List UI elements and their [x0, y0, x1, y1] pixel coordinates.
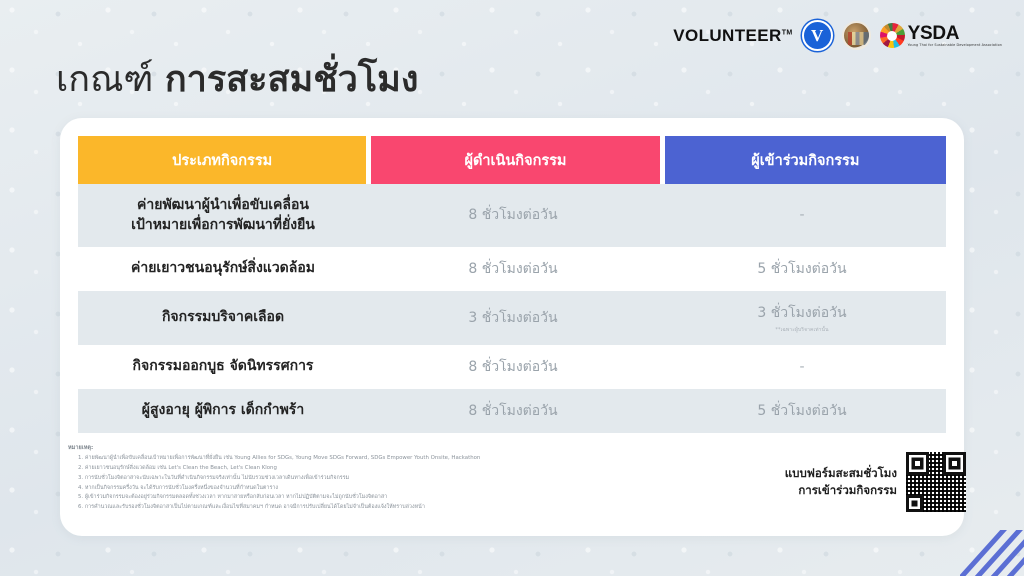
table-row: กิจกรรมออกบูธ จัดนิทรรศการ 8 ชั่วโมงต่อว… [78, 345, 946, 389]
activity-line-1: ค่ายพัฒนาผู้นำเพื่อขับเคลื่อน [137, 195, 309, 215]
activity-line-1: กิจกรรมออกบูธ จัดนิทรรศการ [133, 356, 314, 376]
criteria-table: ประเภทกิจกรรม ผู้ดำเนินกิจกรรม ผู้เข้าร่… [78, 136, 946, 433]
qr-section: แบบฟอร์มสะสมชั่วโมง การเข้าร่วมกิจกรรม [785, 452, 966, 512]
qr-label-line-2: การเข้าร่วมกิจกรรม [785, 482, 897, 499]
activity-line-1: ผู้สูงอายุ ผู้พิการ เด็กกำพร้า [142, 400, 304, 420]
page-title-bold: การสะสมชั่วโมง [165, 59, 419, 100]
qr-finder-bottom-left [906, 495, 923, 512]
cell-activity-type: ค่ายเยาวชนอนุรักษ์สิ่งแวดล้อม [78, 247, 368, 291]
cell-participant-hours: 5 ชั่วโมงต่อวัน [658, 389, 946, 433]
cell-activity-type: กิจกรรมออกบูธ จัดนิทรรศการ [78, 345, 368, 389]
activity-line-1: กิจกรรมบริจาคเลือด [162, 307, 284, 327]
qr-label-line-1: แบบฟอร์มสะสมชั่วโมง [785, 465, 897, 482]
table-row: ค่ายเยาวชนอนุรักษ์สิ่งแวดล้อม 8 ชั่วโมงต… [78, 247, 946, 291]
volunteer-wordmark-text: VOLUNTEER [673, 26, 781, 45]
cell-organizer-hours: 8 ชั่วโมงต่อวัน [368, 389, 658, 433]
notes-heading: หมายเหตุ: [68, 443, 668, 453]
ysda-tagline: Young Thai for Sustainable Development A… [908, 44, 1002, 47]
participant-hours-value: - [799, 207, 804, 223]
note-item: 4. หากเป็นกิจกรรมครึ่งวัน จะได้รับการนับ… [78, 484, 668, 494]
table-row: ค่ายพัฒนาผู้นำเพื่อขับเคลื่อน เป้าหมายเพ… [78, 184, 946, 247]
note-item: 1. ค่ายพัฒนาผู้นำเพื่อขับเคลื่อนเป้าหมาย… [78, 454, 668, 464]
cell-activity-type: ผู้สูงอายุ ผู้พิการ เด็กกำพร้า [78, 389, 368, 433]
cell-activity-type: กิจกรรมบริจาคเลือด [78, 291, 368, 345]
table-row: กิจกรรมบริจาคเลือด 3 ชั่วโมงต่อวัน 3 ชั่… [78, 291, 946, 345]
cell-participant-hours: 5 ชั่วโมงต่อวัน [658, 247, 946, 291]
participant-hours-footnote: **เฉพาะผู้บริจาคเท่านั้น [775, 326, 828, 334]
page-title: เกณฑ์ การสะสมชั่วโมง [56, 50, 418, 107]
column-header-activity-type: ประเภทกิจกรรม [78, 136, 366, 184]
table-header-row: ประเภทกิจกรรม ผู้ดำเนินกิจกรรม ผู้เข้าร่… [78, 136, 946, 184]
notes-section: หมายเหตุ: 1. ค่ายพัฒนาผู้นำเพื่อขับเคลื่… [68, 443, 668, 513]
cell-organizer-hours: 8 ชั่วโมงต่อวัน [368, 345, 658, 389]
note-item: 2. ค่ายเยาวชนอนุรักษ์สิ่งแวดล้อม เช่น Le… [78, 464, 668, 474]
column-header-participant: ผู้เข้าร่วมกิจกรรม [665, 136, 946, 184]
participant-hours-value: - [799, 359, 804, 375]
sdg-wheel-icon [880, 23, 905, 48]
activity-line-2: เป้าหมายเพื่อการพัฒนาที่ยั่งยืน [131, 215, 315, 235]
participant-hours-value: 3 ชั่วโมงต่อวัน [757, 302, 846, 324]
ysda-name: YSDA [908, 24, 1002, 43]
volunteer-badge-icon: V [802, 20, 833, 51]
cell-participant-hours: - [658, 345, 946, 389]
cell-organizer-hours: 3 ชั่วโมงต่อวัน [368, 291, 658, 345]
ysda-logo: YSDA Young Thai for Sustainable Developm… [880, 23, 1002, 48]
volunteer-badge-letter: V [811, 26, 823, 46]
qr-label: แบบฟอร์มสะสมชั่วโมง การเข้าร่วมกิจกรรม [785, 465, 897, 498]
activity-line-1: ค่ายเยาวชนอนุรักษ์สิ่งแวดล้อม [131, 258, 315, 278]
cell-organizer-hours: 8 ชั่วโมงต่อวัน [368, 184, 658, 247]
note-item: 6. การคำนวณและรับรองชั่วโมงจิตอาสาเป็นไป… [78, 503, 668, 513]
volunteer-wordmark: VOLUNTEERTM [673, 26, 792, 46]
note-item: 5. ผู้เข้าร่วมกิจกรรมจะต้องอยู่ร่วมกิจกร… [78, 493, 668, 503]
trademark-mark: TM [782, 29, 793, 36]
corner-stripes-decoration [960, 530, 1024, 576]
ysda-text-block: YSDA Young Thai for Sustainable Developm… [908, 24, 1002, 47]
column-header-organizer: ผู้ดำเนินกิจกรรม [371, 136, 659, 184]
notes-list: 1. ค่ายพัฒนาผู้นำเพื่อขับเคลื่อนเป้าหมาย… [68, 454, 668, 513]
qr-code-image[interactable] [906, 452, 966, 512]
government-seal-icon [842, 21, 871, 50]
cell-participant-hours: 3 ชั่วโมงต่อวัน **เฉพาะผู้บริจาคเท่านั้น [658, 291, 946, 345]
table-row: ผู้สูงอายุ ผู้พิการ เด็กกำพร้า 8 ชั่วโมง… [78, 389, 946, 433]
note-item: 3. การนับชั่วโมงจิตอาสาจะนับเฉพาะในวันที… [78, 474, 668, 484]
cell-organizer-hours: 8 ชั่วโมงต่อวัน [368, 247, 658, 291]
logo-bar: VOLUNTEERTM V YSDA Young Thai for Sustai… [673, 20, 1002, 51]
cell-participant-hours: - [658, 184, 946, 247]
page-title-light: เกณฑ์ [56, 59, 165, 100]
cell-activity-type: ค่ายพัฒนาผู้นำเพื่อขับเคลื่อน เป้าหมายเพ… [78, 184, 368, 247]
